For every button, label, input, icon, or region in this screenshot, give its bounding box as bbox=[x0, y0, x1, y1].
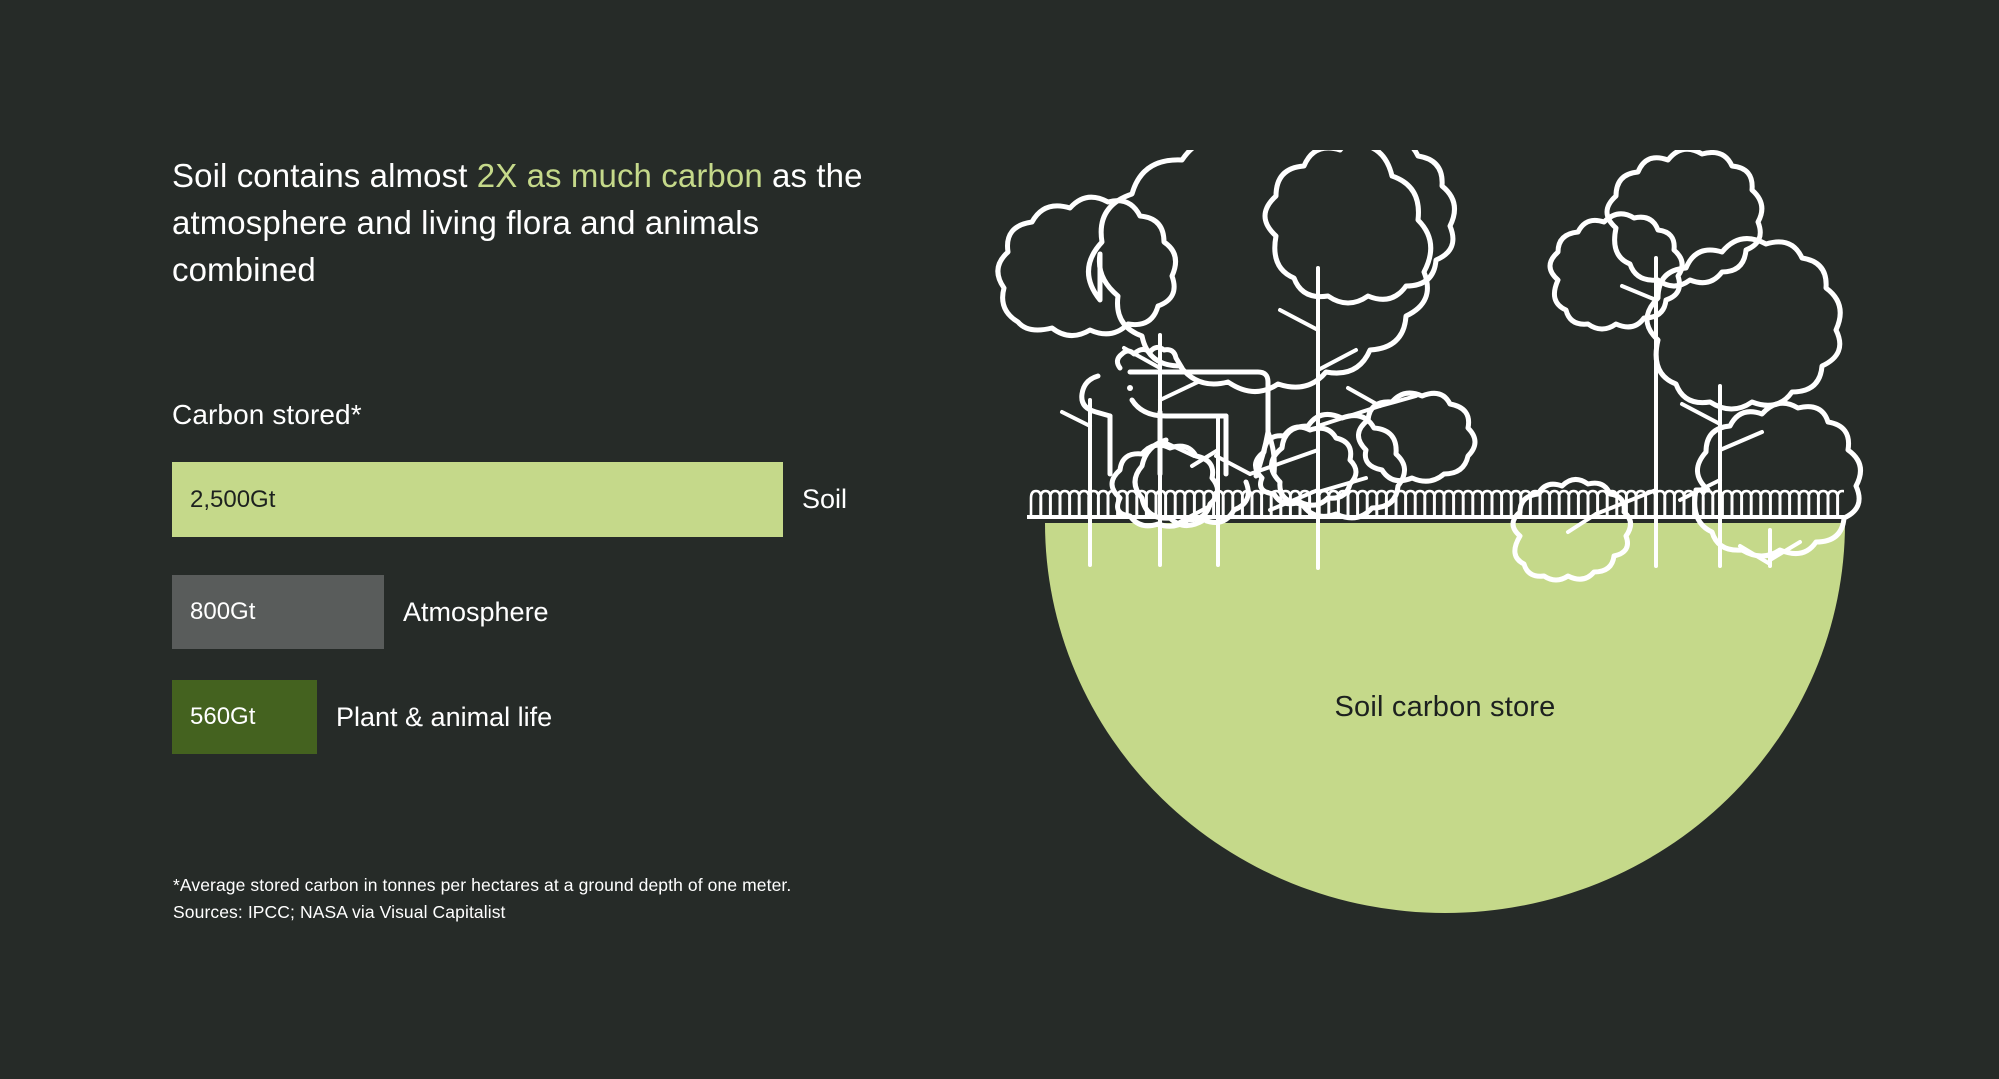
bar-value-atmosphere: 800Gt bbox=[172, 598, 255, 626]
bar-atmosphere: 800Gt bbox=[172, 575, 384, 649]
footnote: *Average stored carbon in tonnes per hec… bbox=[173, 872, 791, 926]
grass-tufts bbox=[1031, 491, 1844, 517]
bar-value-soil: 2,500Gt bbox=[172, 486, 275, 514]
bar-row-atmosphere: 800Gt Atmosphere bbox=[172, 575, 549, 649]
infographic-canvas: Soil contains almost 2X as much carbon a… bbox=[0, 0, 1999, 1079]
bar-row-plant: 560Gt Plant & animal life bbox=[172, 680, 552, 754]
chart-title: Carbon stored* bbox=[172, 399, 362, 431]
page-title: Soil contains almost 2X as much carbon a… bbox=[172, 152, 872, 293]
bar-label-plant: Plant & animal life bbox=[317, 702, 552, 733]
grass-line bbox=[1027, 484, 1844, 520]
headline-part-1: Soil contains almost bbox=[172, 157, 477, 194]
headline-accent: 2X as much carbon bbox=[477, 157, 763, 194]
grass-tuft bbox=[1837, 491, 1844, 517]
bar-label-atmosphere: Atmosphere bbox=[384, 597, 549, 628]
bar-soil: 2,500Gt bbox=[172, 462, 783, 537]
bar-value-plant: 560Gt bbox=[172, 703, 255, 731]
landscape-illustration bbox=[980, 150, 1880, 940]
bar-plant: 560Gt bbox=[172, 680, 317, 754]
bar-label-soil: Soil bbox=[783, 484, 847, 515]
footnote-line-2: Sources: IPCC; NASA via Visual Capitalis… bbox=[173, 899, 791, 926]
bar-row-soil: 2,500Gt Soil bbox=[172, 462, 847, 537]
footnote-line-1: *Average stored carbon in tonnes per hec… bbox=[173, 872, 791, 899]
